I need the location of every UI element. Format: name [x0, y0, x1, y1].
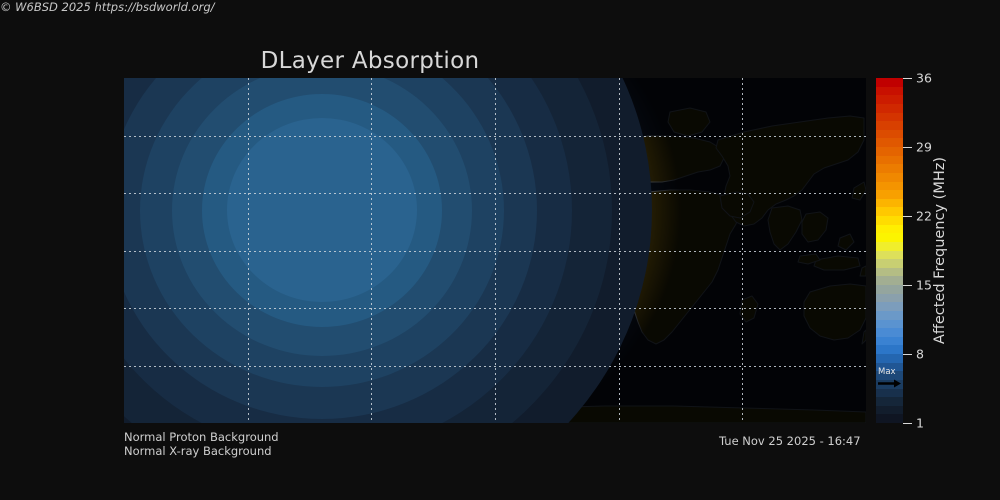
colorbar-segment-19	[876, 242, 903, 251]
colorbar-segment-9	[876, 156, 903, 165]
grid-longitude-0	[495, 78, 496, 423]
colorbar-max-label: Max	[877, 368, 903, 377]
grid-longitude--120	[248, 78, 249, 423]
colorbar-segment-21	[876, 259, 903, 268]
colorbar-segment-0	[876, 78, 903, 87]
colorbar-segment-8	[876, 147, 903, 156]
max-arrow-icon	[878, 379, 902, 388]
colorbar-segment-25	[876, 294, 903, 303]
colorbar-segment-20	[876, 251, 903, 260]
colorbar-segment-5	[876, 121, 903, 130]
colorbar-segment-39	[876, 414, 903, 423]
colorbar-tick-29	[903, 147, 912, 148]
colorbar-segment-22	[876, 268, 903, 277]
grid-longitude-120	[742, 78, 743, 423]
colorbar-segment-17	[876, 225, 903, 234]
colorbar-tick-36	[903, 78, 912, 79]
colorbar-segment-16	[876, 216, 903, 225]
colorbar-segment-18	[876, 233, 903, 242]
colorbar-segment-14	[876, 199, 903, 208]
colorbar-tick-label-1: 1	[916, 416, 924, 431]
colorbar-segment-38	[876, 406, 903, 415]
colorbar-segment-10	[876, 164, 903, 173]
colorbar-segment-31	[876, 345, 903, 354]
dlayer-absorption-plot: DLayer Absorption	[0, 0, 1000, 500]
colorbar-segment-7	[876, 138, 903, 147]
colorbar-segment-15	[876, 207, 903, 216]
colorbar-segment-29	[876, 328, 903, 337]
colorbar-segment-27	[876, 311, 903, 320]
colorbar-max-marker: Max	[877, 368, 903, 390]
colorbar-segment-2	[876, 95, 903, 104]
colorbar-tick-22	[903, 216, 912, 217]
status-xray: Normal X-ray Background	[124, 444, 272, 458]
absorption-ring-1	[227, 118, 417, 302]
colorbar-segment-24	[876, 285, 903, 294]
map-canvas	[124, 78, 866, 423]
status-proton: Normal Proton Background	[124, 430, 279, 444]
colorbar-segment-13	[876, 190, 903, 199]
grid-longitude-60	[619, 78, 620, 423]
colorbar-tick-15	[903, 285, 912, 286]
colorbar-segment-1	[876, 87, 903, 96]
colorbar-axis-label-text: Affected Frequency (MHz)	[932, 157, 948, 344]
world-map[interactable]	[124, 78, 866, 423]
colorbar-segment-3	[876, 104, 903, 113]
colorbar-segment-12	[876, 182, 903, 191]
colorbar-segment-11	[876, 173, 903, 182]
colorbar-segment-32	[876, 354, 903, 363]
colorbar-segment-6	[876, 130, 903, 139]
grid-longitude--60	[371, 78, 372, 423]
colorbar-segment-26	[876, 302, 903, 311]
timestamp: Tue Nov 25 2025 - 16:47	[719, 434, 861, 448]
colorbar-axis-label: Affected Frequency (MHz)	[929, 78, 951, 423]
colorbar-segment-30	[876, 337, 903, 346]
colorbar-tick-1	[903, 423, 912, 424]
colorbar-tick-8	[903, 354, 912, 355]
colorbar-tick-label-8: 8	[916, 347, 924, 362]
page-title: DLayer Absorption	[0, 48, 740, 74]
colorbar-segment-23	[876, 276, 903, 285]
colorbar-segment-37	[876, 397, 903, 406]
colorbar-segment-28	[876, 320, 903, 329]
copyright-notice: © W6BSD 2025 https://bsdworld.org/	[0, 0, 1000, 14]
colorbar-segment-4	[876, 113, 903, 122]
